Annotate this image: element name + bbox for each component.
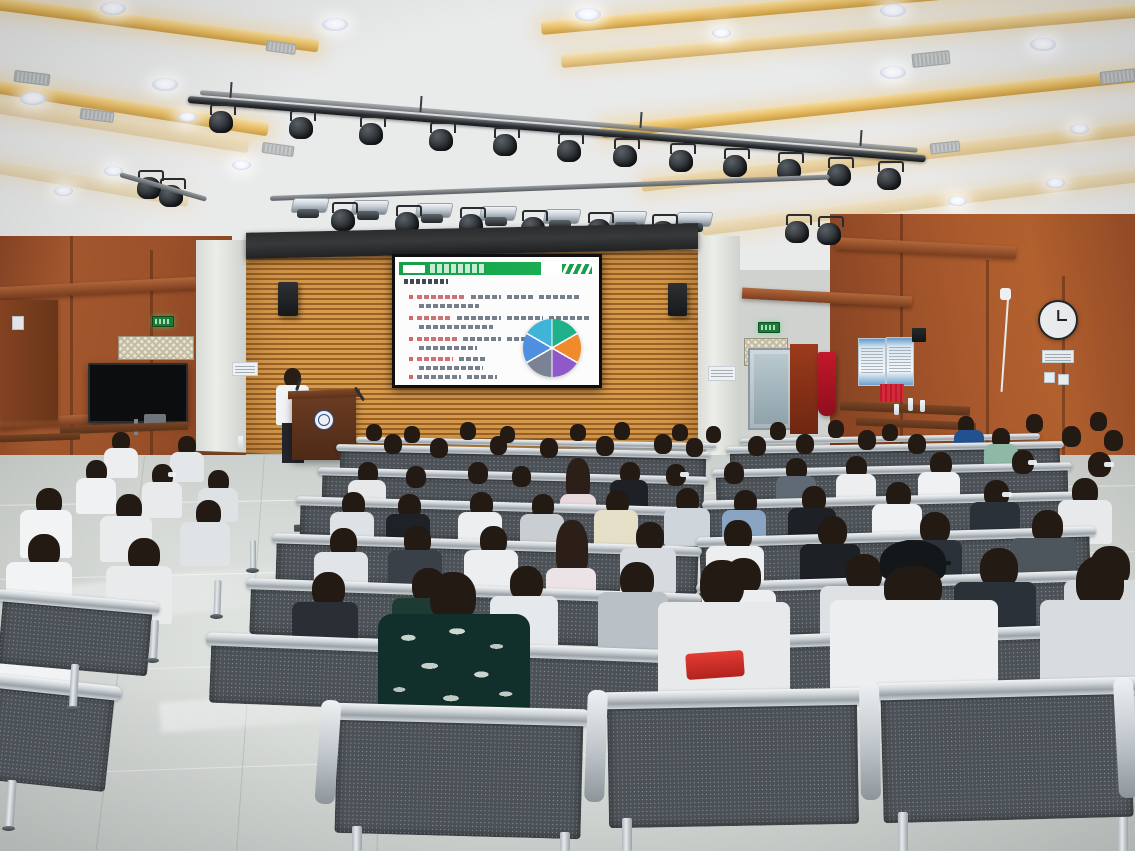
recessed-downlight [880,4,906,17]
slide-header-title [430,264,486,273]
bullet-text [419,304,479,308]
water-bottle [894,404,899,415]
wall-poster [858,338,886,386]
stage-spotlight [288,110,314,140]
audience-head [858,430,876,450]
slide-bullet [409,295,579,299]
ceiling-air-vent [911,50,950,68]
seat-leg [213,580,221,618]
slide-bullet [419,366,515,370]
slide-bullet [409,375,519,379]
audience-head [406,466,426,488]
slide-header-banner [399,262,596,275]
stage-spotlight [722,148,748,178]
audience-head [748,436,766,456]
recessed-downlight [54,186,73,196]
audience-head [490,436,507,455]
audience-head [1104,430,1123,451]
ceiling-air-vent [261,142,294,157]
stage-floodlight [292,198,326,218]
audience-head [882,424,898,441]
seat-leg [352,826,362,851]
seat-foot [210,614,223,619]
audience-torso [76,478,116,514]
wall-speaker [912,328,926,342]
seat-foot [2,826,15,831]
recessed-downlight [575,8,601,21]
stage-spotlight [876,161,902,191]
stage-spotlight [492,127,518,157]
seat-foot [66,706,79,711]
audience-torso [658,602,790,698]
exit-sign [152,316,174,327]
bullet-text [417,375,461,379]
seat-foot [246,568,259,573]
stage-spotlight [330,202,356,232]
flat-screen-television [88,363,188,423]
audience-head [384,434,402,454]
stage-spotlight [826,157,852,187]
seat-armrest [584,690,608,803]
audience-head [700,560,744,608]
audience-head [724,462,744,484]
audience-torso [594,510,638,548]
seat-leg [622,818,632,851]
audience-torso [142,482,182,518]
wall-clock [1038,300,1078,340]
face-mask [1104,462,1114,467]
recessed-downlight [232,160,251,170]
recessed-downlight [1070,124,1089,134]
bullet-text [507,295,533,299]
recessed-downlight [178,112,197,122]
slide-header-chip [403,265,425,273]
audience-head [796,434,814,454]
recessed-downlight [100,2,126,15]
water-bottle [920,400,925,412]
exit-sign [758,322,780,333]
water-bottle [238,436,243,449]
wall-shelf [0,300,58,420]
audience-head [614,422,630,440]
podium-emblem [314,410,334,430]
seat-foot [146,658,159,663]
bullet-text [419,325,493,329]
seat-armrest [859,682,881,800]
bullet-text [463,337,501,341]
glass-door [748,348,794,430]
face-mask [680,472,689,477]
bullet-marker [409,295,413,299]
recessed-downlight [1046,178,1065,188]
light-switch [1044,372,1055,383]
section-subtitle [404,279,448,284]
stage-spotlight [428,122,454,152]
auditorium-seat[interactable] [880,687,1133,823]
wall-poster [886,337,914,386]
wooden-door [790,344,818,434]
projection-screen [392,254,602,388]
audience-head [596,436,614,456]
wall-plaque [1042,350,1074,363]
wall-plaque [708,366,736,381]
audience-head [686,438,703,457]
audience-head [430,438,448,458]
recessed-downlight [948,196,967,206]
red-bag-on-seat [685,650,745,680]
audience-head [468,462,488,484]
bullet-text [417,337,457,341]
bullet-text [459,357,487,361]
stage-spotlight [612,138,638,168]
bullet-marker [409,316,413,320]
audience-head [770,422,786,440]
bullet-marker [409,337,413,341]
lattice-window [118,336,194,360]
stage-spotlight [358,116,384,146]
bullet-text [417,295,465,299]
face-mask [1028,460,1037,465]
audience-head [828,420,844,438]
face-mask [1002,492,1012,497]
bullet-text [419,366,483,370]
seat-leg [898,812,908,851]
bullet-text [419,346,477,350]
audience-head [654,434,672,454]
water-bottle [908,398,913,411]
bullet-text [417,316,451,320]
auditorium-seat[interactable] [334,713,583,839]
presentation-slide [395,257,599,385]
audience-head [672,424,688,441]
cove-light-strip [561,1,1135,68]
seat-leg [560,832,570,851]
slide-bullet [409,357,529,361]
audience-head [512,466,531,487]
audience-head [366,424,382,441]
bullet-text [467,375,497,379]
stage-spotlight [816,216,842,246]
audience-head [404,426,420,443]
bullet-text [539,295,581,299]
auditorium-seat[interactable] [0,684,115,792]
slide-bullet [419,304,509,308]
stage-spotlight [208,104,234,134]
red-crate [880,384,904,402]
audience-torso [170,452,204,482]
auditorium-scene: 文明就座 请保持距离 [0,0,1135,851]
slide-bullet [419,346,505,350]
wall-speaker [278,282,298,316]
bullet-text [457,316,501,320]
stage-spotlight [784,214,810,244]
recessed-downlight [20,92,46,105]
light-switch [1058,374,1069,385]
auditorium-seat[interactable] [607,698,859,828]
bullet-text [417,357,453,361]
audience-head [570,424,586,441]
slide-bullet [419,325,539,329]
bullet-marker [409,375,413,379]
audience-head [540,438,558,458]
audience-head [818,516,847,547]
audience-head [460,422,476,440]
audience-head [1026,414,1043,433]
recessed-downlight [712,28,731,38]
wall-speaker [668,283,687,316]
six-segment-wheel-diagram [523,319,581,377]
bullet-marker [409,357,413,361]
audience-head [1062,426,1081,447]
cove-light-strip [601,67,1135,138]
audience-head [706,426,721,443]
recessed-downlight [152,78,178,91]
audience-torso [180,522,230,566]
light-switch [12,316,24,330]
recessed-downlight [322,18,348,31]
pole-cap [1000,288,1011,300]
slide-header-slashes [562,264,592,274]
audience-head [908,434,926,454]
audience-head [1090,412,1107,431]
stage-spotlight [668,143,694,173]
bullet-text [471,295,501,299]
face-mask [168,472,176,477]
recessed-downlight [1030,38,1056,51]
wall-plaque [232,362,258,376]
red-banner-flag [818,352,836,416]
audience-torso [104,448,138,478]
recessed-downlight [880,66,906,79]
stage-spotlight [556,133,582,163]
